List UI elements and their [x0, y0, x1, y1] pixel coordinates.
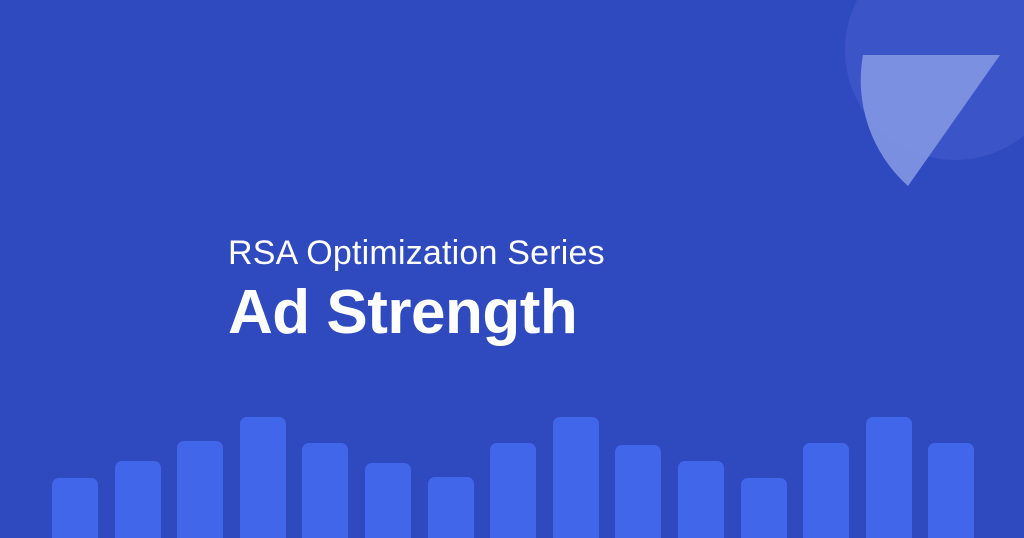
chart-bar — [678, 461, 724, 538]
bar-chart-strip — [0, 405, 1024, 538]
chart-bar — [52, 478, 98, 538]
background-circle — [845, 0, 1024, 160]
promo-banner: RSA Optimization Series Ad Strength — [0, 0, 1024, 538]
pie-wedge — [861, 55, 1000, 186]
page-title: Ad Strength — [228, 276, 868, 350]
chart-bar — [177, 441, 223, 538]
chart-bar — [803, 443, 849, 538]
chart-bar — [928, 443, 974, 538]
chart-bar — [490, 443, 536, 538]
chart-bar — [553, 417, 599, 538]
chart-bar — [615, 445, 661, 538]
chart-bar — [115, 461, 161, 538]
chart-bar — [866, 417, 912, 538]
chart-bar — [365, 463, 411, 538]
chart-bar — [240, 417, 286, 538]
series-subtitle: RSA Optimization Series — [228, 232, 868, 274]
chart-bar — [302, 443, 348, 538]
chart-bar — [428, 477, 474, 538]
chart-bar — [741, 478, 787, 538]
headline-block: RSA Optimization Series Ad Strength — [228, 232, 868, 350]
